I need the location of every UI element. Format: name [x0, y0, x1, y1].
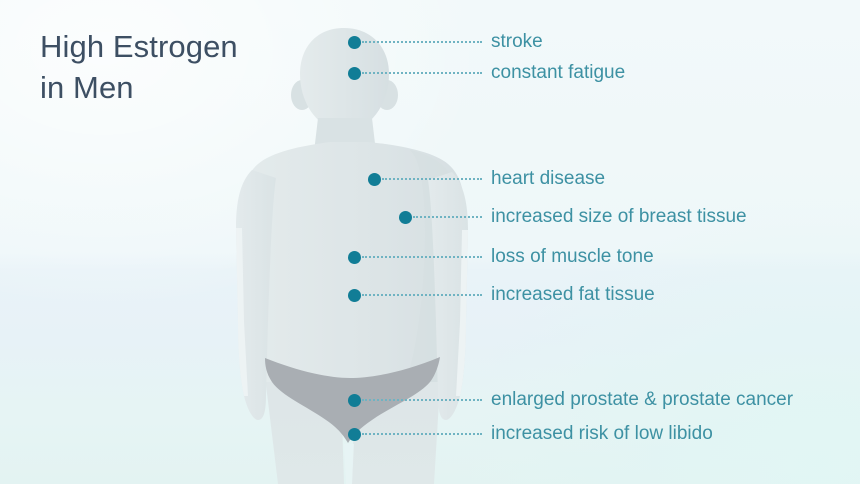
callout-label: increased risk of low libido — [491, 424, 713, 443]
callout-dot — [399, 211, 412, 224]
callout-leader-line — [382, 178, 482, 182]
callout-leader-line — [362, 72, 482, 76]
callout-label: loss of muscle tone — [491, 247, 654, 266]
callout-leader-line — [362, 433, 482, 437]
callout-dot — [348, 251, 361, 264]
callout-dot — [348, 289, 361, 302]
callout-dot — [368, 173, 381, 186]
infographic-canvas: High Estrogen in Men stroke constant fat… — [0, 0, 860, 484]
callout-leader-line — [362, 256, 482, 260]
callout-label: constant fatigue — [491, 63, 625, 82]
callout-leader-line — [362, 294, 482, 298]
callout-label: enlarged prostate & prostate cancer — [491, 390, 793, 409]
callout-label: stroke — [491, 32, 543, 51]
callout-label: heart disease — [491, 169, 605, 188]
callout-label: increased size of breast tissue — [491, 207, 747, 226]
callout-leader-line — [362, 399, 482, 403]
callout-label: increased fat tissue — [491, 285, 655, 304]
callout-leader-line — [413, 216, 482, 220]
callout-dot — [348, 428, 361, 441]
callout-dot — [348, 394, 361, 407]
callout-leader-line — [362, 41, 482, 45]
callout-dot — [348, 67, 361, 80]
callout-list: stroke constant fatigue heart disease in… — [0, 0, 860, 484]
callout-dot — [348, 36, 361, 49]
